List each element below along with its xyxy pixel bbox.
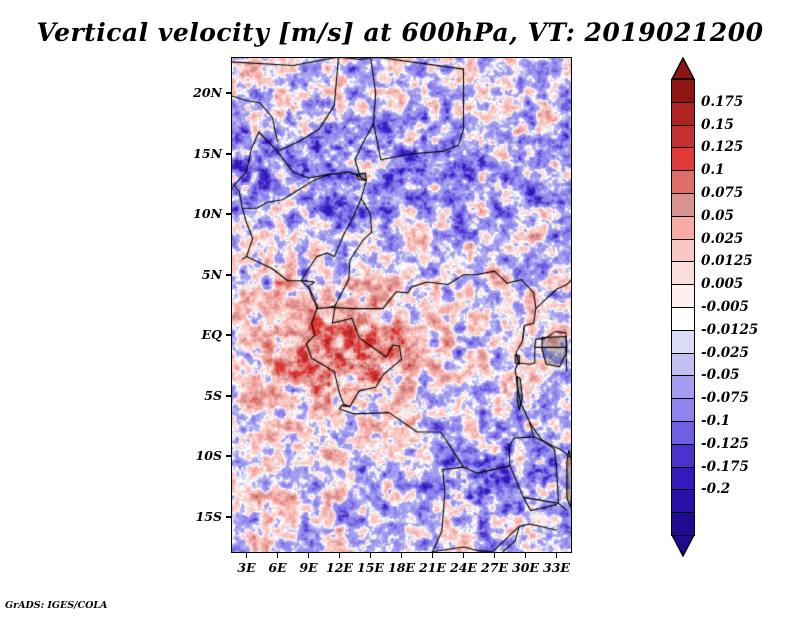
colorbar-swatch	[671, 261, 695, 285]
y-tick	[226, 153, 231, 155]
x-tick	[277, 553, 279, 558]
colorbar-tick-label: -0.075	[701, 390, 749, 406]
colorbar-swatch	[671, 421, 695, 445]
colorbar-tick-label: -0.2	[701, 481, 730, 497]
colorbar-tick-label: -0.1	[701, 413, 730, 429]
colorbar-tick-label: 0.0125	[701, 253, 753, 269]
colorbar-tick-label: 0.05	[701, 208, 734, 224]
y-axis-label: 5N	[202, 267, 222, 282]
x-axis-label: 12E	[326, 560, 353, 575]
colorbar-swatch	[671, 489, 695, 513]
colorbar-swatch	[671, 239, 695, 263]
colorbar-tick-label: 0.025	[701, 231, 743, 247]
page-title: Vertical velocity [m/s] at 600hPa, VT: 2…	[0, 18, 800, 47]
y-tick	[226, 213, 231, 215]
colorbar-swatch	[671, 353, 695, 377]
y-tick	[226, 455, 231, 457]
x-axis-label: 6E	[268, 560, 286, 575]
colorbar-swatch	[671, 216, 695, 240]
colorbar: 0.1750.150.1250.10.0750.050.0250.01250.0…	[671, 57, 695, 557]
y-axis-label: EQ	[202, 327, 222, 342]
colorbar-swatch	[671, 467, 695, 491]
colorbar-swatch	[671, 330, 695, 354]
colorbar-swatch	[671, 79, 695, 103]
colorbar-swatch	[671, 398, 695, 422]
x-axis-label: 18E	[388, 560, 415, 575]
footer-credit: GrADS: IGES/COLA	[5, 600, 107, 611]
colorbar-tick-label: 0.15	[701, 117, 734, 133]
x-tick	[308, 553, 310, 558]
colorbar-swatch	[671, 284, 695, 308]
y-axis-label: 15S	[196, 509, 222, 524]
x-tick	[463, 553, 465, 558]
x-tick	[401, 553, 403, 558]
colorbar-tick-label: 0.075	[701, 185, 743, 201]
y-axis-label: 5S	[204, 388, 222, 403]
y-axis-label: 10S	[196, 448, 222, 463]
y-axis-label: 10N	[193, 206, 222, 221]
x-tick	[525, 553, 527, 558]
colorbar-tick-label: 0.005	[701, 276, 743, 292]
x-tick	[370, 553, 372, 558]
grads-plot-page: Vertical velocity [m/s] at 600hPa, VT: 2…	[0, 0, 800, 618]
colorbar-tick-label: -0.025	[701, 345, 749, 361]
colorbar-swatch	[671, 170, 695, 194]
x-axis-label: 33E	[543, 560, 570, 575]
y-tick	[226, 334, 231, 336]
y-tick	[226, 274, 231, 276]
vertical-velocity-heatmap	[231, 57, 572, 553]
colorbar-swatch	[671, 512, 695, 536]
colorbar-tick-label: 0.175	[701, 94, 743, 110]
colorbar-swatch	[671, 444, 695, 468]
x-axis-label: 3E	[237, 560, 255, 575]
colorbar-swatch	[671, 147, 695, 171]
colorbar-tick-label: -0.005	[701, 299, 749, 315]
y-axis-label: 20N	[193, 85, 222, 100]
y-tick	[226, 92, 231, 94]
x-tick	[246, 553, 248, 558]
colorbar-swatch	[671, 125, 695, 149]
colorbar-extend-min-arrow	[671, 535, 695, 557]
x-tick	[432, 553, 434, 558]
colorbar-tick-label: -0.175	[701, 459, 749, 475]
x-tick	[494, 553, 496, 558]
colorbar-tick-label: 0.125	[701, 139, 743, 155]
colorbar-swatch	[671, 375, 695, 399]
x-axis-label: 9E	[299, 560, 317, 575]
x-axis-label: 30E	[512, 560, 539, 575]
x-axis-label: 27E	[481, 560, 508, 575]
y-tick	[226, 395, 231, 397]
colorbar-swatch	[671, 307, 695, 331]
x-tick	[339, 553, 341, 558]
colorbar-swatch	[671, 102, 695, 126]
colorbar-tick-label: -0.05	[701, 367, 739, 383]
colorbar-tick-label: -0.125	[701, 436, 749, 452]
y-tick	[226, 516, 231, 518]
map-plot-area	[231, 57, 572, 553]
colorbar-tick-label: 0.1	[701, 162, 725, 178]
x-axis-label: 15E	[357, 560, 384, 575]
colorbar-tick-label: -0.0125	[701, 322, 758, 338]
colorbar-swatch	[671, 193, 695, 217]
x-axis-label: 24E	[450, 560, 477, 575]
x-tick	[556, 553, 558, 558]
colorbar-extend-max-arrow	[671, 57, 695, 79]
y-axis-label: 15N	[193, 146, 222, 161]
x-axis-label: 21E	[419, 560, 446, 575]
